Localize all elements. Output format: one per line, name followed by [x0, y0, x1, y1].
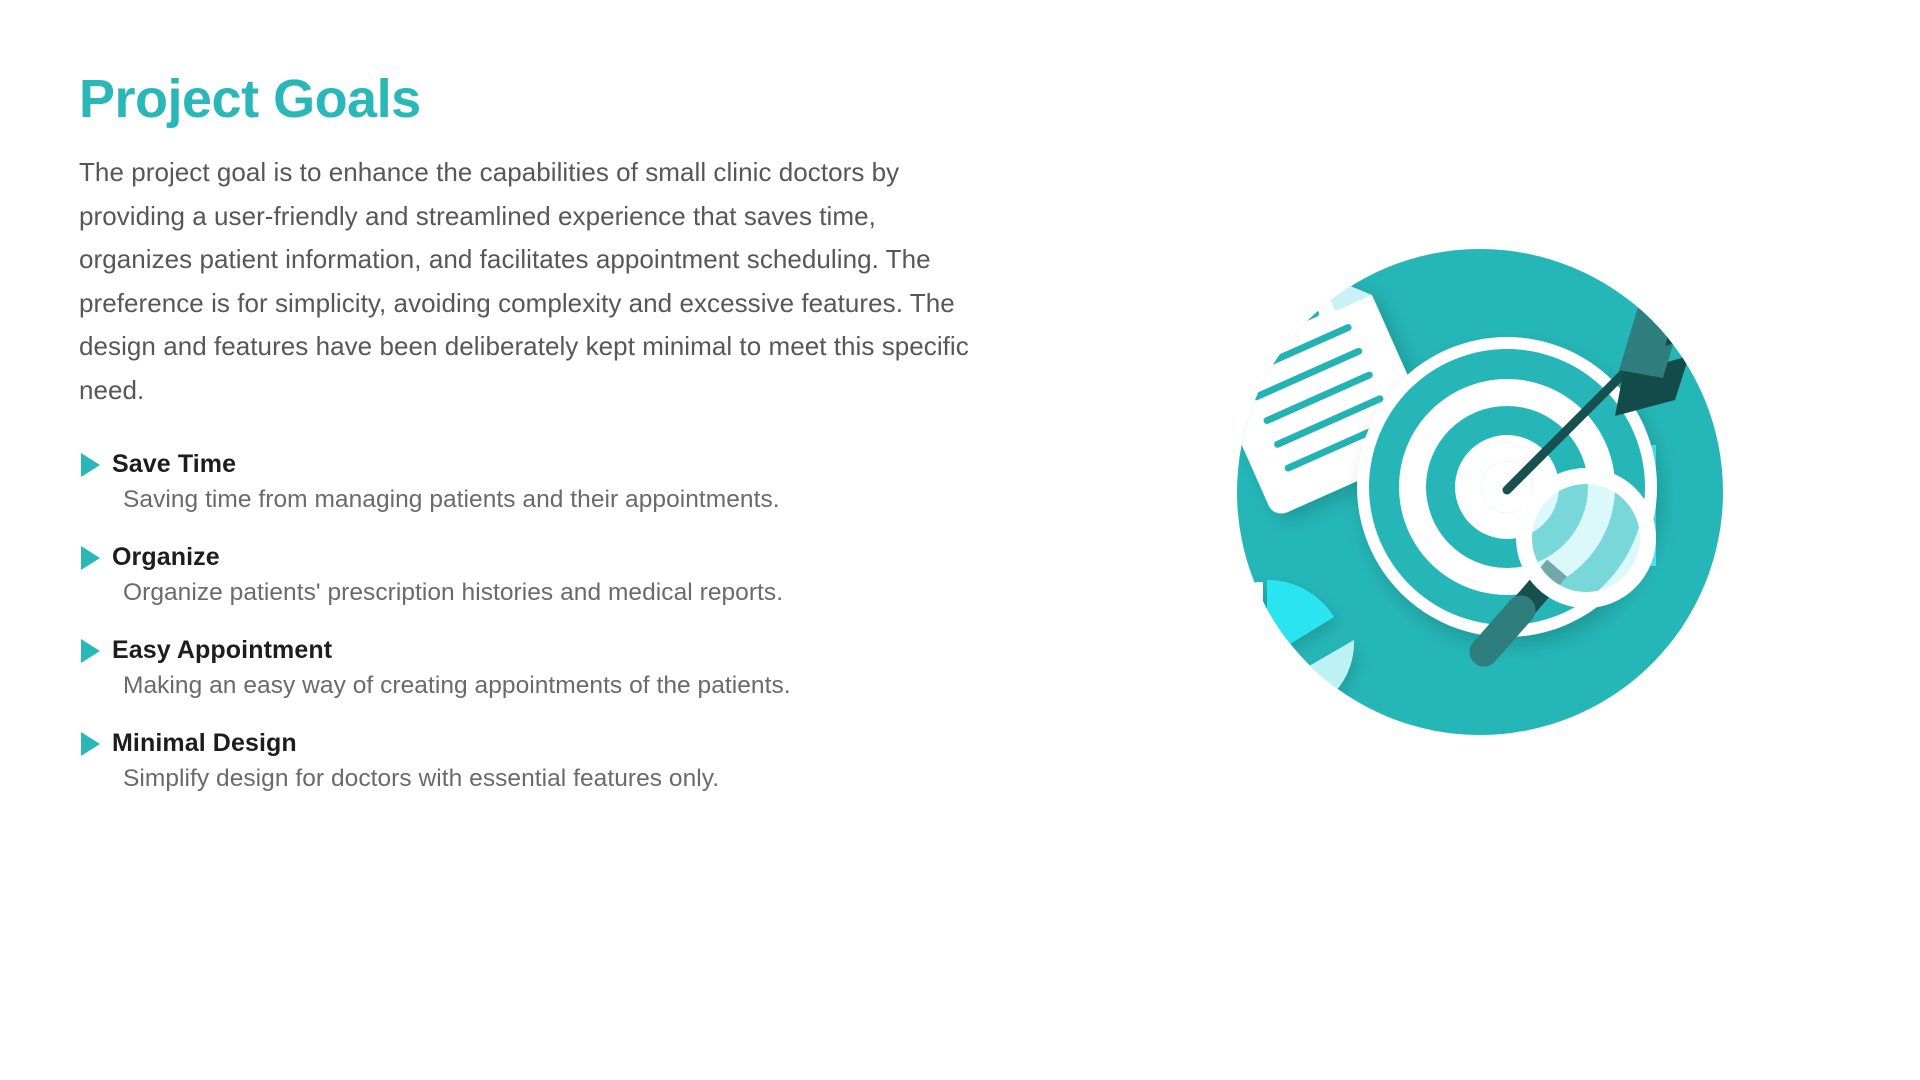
goal-title: Easy Appointment	[112, 636, 332, 665]
goal-item-minimal-design: Minimal Design Simplify design for docto…	[79, 729, 979, 793]
goal-item-organize: Organize Organize patients' prescription…	[79, 543, 979, 607]
goal-title: Save Time	[112, 450, 236, 479]
goal-description: Simplify design for doctors with essenti…	[123, 765, 979, 793]
triangle-right-icon	[81, 639, 100, 663]
slide-root: Project Goals The project goal is to enh…	[0, 0, 1920, 1080]
triangle-right-icon	[81, 453, 100, 477]
goal-item-save-time: Save Time Saving time from managing pati…	[79, 450, 979, 514]
goal-description: Making an easy way of creating appointme…	[123, 672, 979, 700]
goal-title: Minimal Design	[112, 729, 297, 758]
goal-description: Saving time from managing patients and t…	[123, 486, 979, 514]
goal-title: Organize	[112, 543, 220, 572]
goal-heading-row: Save Time	[79, 450, 979, 479]
content-column: Project Goals The project goal is to enh…	[79, 70, 979, 822]
intro-paragraph: The project goal is to enhance the capab…	[79, 151, 969, 412]
triangle-right-icon	[81, 546, 100, 570]
goal-description: Organize patients' prescription historie…	[123, 579, 979, 607]
goal-heading-row: Easy Appointment	[79, 636, 979, 665]
page-title: Project Goals	[79, 70, 979, 129]
triangle-right-icon	[81, 732, 100, 756]
goal-list: Save Time Saving time from managing pati…	[79, 450, 979, 793]
goal-heading-row: Minimal Design	[79, 729, 979, 758]
goal-target-illustration	[1115, 140, 1845, 870]
goal-heading-row: Organize	[79, 543, 979, 572]
goal-item-easy-appointment: Easy Appointment Making an easy way of c…	[79, 636, 979, 700]
